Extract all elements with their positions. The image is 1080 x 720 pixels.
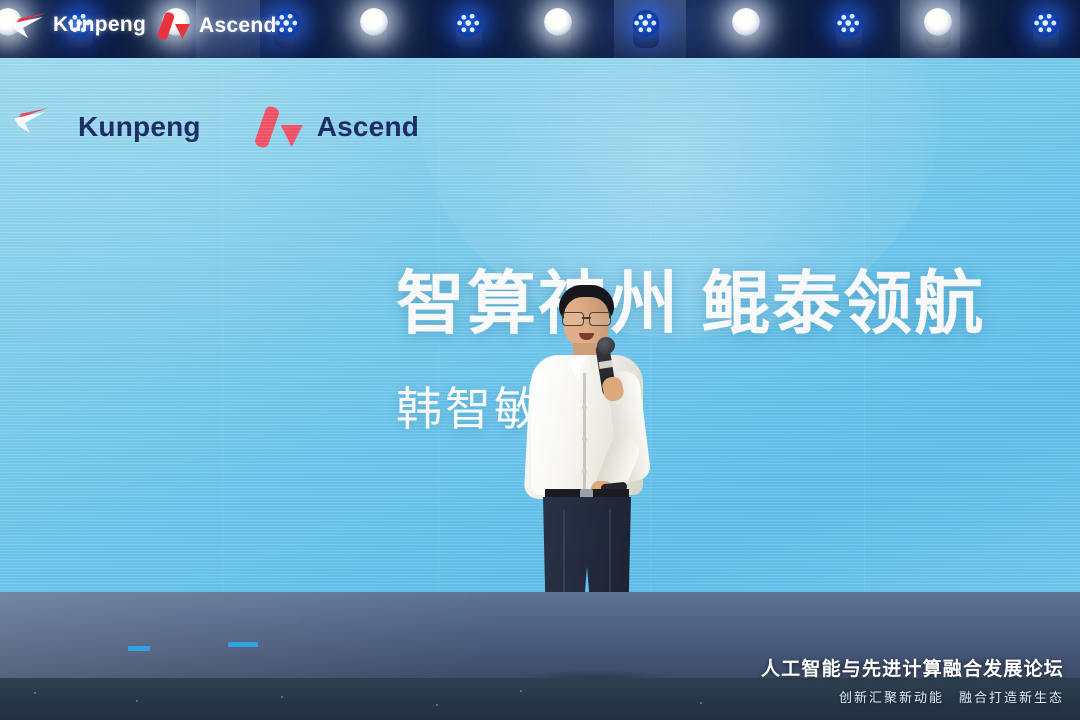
kunpeng-bird-icon <box>14 107 66 147</box>
ascend-a-icon <box>160 12 192 40</box>
screen-brand-kunpeng: Kunpeng <box>14 107 201 147</box>
forum-lockup: 人工智能与先进计算融合发展论坛 创新汇聚新动能 融合打造新生态 <box>761 654 1064 706</box>
backdrop-brand-kunpeng: Kunpeng <box>12 12 146 38</box>
ascend-a-icon <box>259 106 305 148</box>
slide-headline: 智算神州 鲲泰领航 <box>396 269 985 339</box>
backdrop-brand-label: Ascend <box>199 14 277 38</box>
screen-brand-label: Kunpeng <box>78 111 201 143</box>
floor-marker-tape <box>128 646 150 651</box>
backdrop-brand-label: Kunpeng <box>53 13 146 37</box>
screen-brand-label: Ascend <box>317 111 419 143</box>
forum-title: 人工智能与先进计算融合发展论坛 <box>761 654 1064 681</box>
forum-subtitle: 创新汇聚新动能 融合打造新生态 <box>761 687 1064 706</box>
stage-photo: Kunpeng Ascend Kunpeng Ascend 智算神州 鲲泰领航 … <box>0 0 1080 720</box>
glasses-icon <box>562 312 611 324</box>
kunpeng-bird-icon <box>12 12 46 38</box>
screen-brand-ascend: Ascend <box>259 106 419 148</box>
backdrop-band: Kunpeng Ascend <box>0 0 1080 60</box>
backdrop-brand-ascend: Ascend <box>160 12 277 40</box>
floor-marker-tape <box>228 642 258 647</box>
screen-brand-row: Kunpeng Ascend <box>14 106 419 148</box>
